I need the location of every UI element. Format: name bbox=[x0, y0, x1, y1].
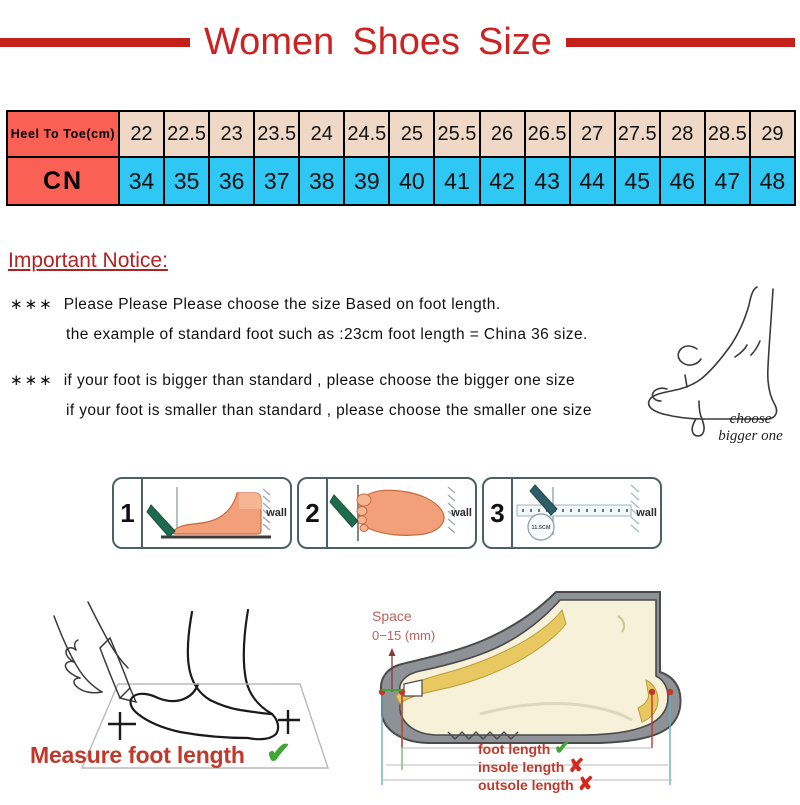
cell-cm-13: 28.5 bbox=[705, 111, 750, 157]
cell-cn-0: 34 bbox=[119, 157, 164, 205]
cell-cn-6: 40 bbox=[389, 157, 434, 205]
step-3-ruler-reading: 11.5CM bbox=[532, 525, 551, 531]
step-1-wall-label: wall bbox=[266, 507, 287, 519]
notice-paragraph-1-line-1: ∗∗∗Please Please Please choose the size … bbox=[10, 290, 700, 320]
row-header-cn: CN bbox=[7, 157, 119, 205]
length-legend: foot length ✔ insole length ✘ outsole le… bbox=[478, 740, 593, 794]
cell-cm-9: 26.5 bbox=[525, 111, 570, 157]
title-word-2: Shoes bbox=[352, 21, 460, 63]
cell-cm-5: 24.5 bbox=[344, 111, 389, 157]
cell-cm-8: 26 bbox=[480, 111, 525, 157]
step-number-1: 1 bbox=[114, 479, 143, 547]
cell-cn-8: 42 bbox=[480, 157, 525, 205]
cell-cm-6: 25 bbox=[389, 111, 434, 157]
legend-insole-length: insole length ✘ bbox=[478, 758, 593, 776]
notice-bullet-2: ∗∗∗ bbox=[10, 372, 54, 389]
step-number-2: 2 bbox=[299, 479, 328, 547]
cell-cn-9: 43 bbox=[525, 157, 570, 205]
measure-foot-length-caption: Measure foot length bbox=[30, 742, 245, 769]
cell-cm-12: 28 bbox=[660, 111, 705, 157]
cell-cn-12: 46 bbox=[660, 157, 705, 205]
page-title: WomenShoesSize bbox=[190, 22, 566, 62]
notice-p2-l1-text: if your foot is bigger than standard , p… bbox=[64, 372, 575, 389]
legend-outsole-length-text: outsole length bbox=[478, 777, 574, 793]
legend-outsole-length-cross-icon: ✘ bbox=[578, 774, 594, 795]
cell-cm-3: 23.5 bbox=[254, 111, 299, 157]
table-row-heel-to-toe: Heel To Toe(cm) 22 22.5 23 23.5 24 24.5 … bbox=[7, 111, 795, 157]
cell-cn-14: 48 bbox=[750, 157, 795, 205]
measurement-steps: 1 wall 2 bbox=[112, 477, 662, 549]
table-row-cn: CN 34 35 36 37 38 39 40 41 42 43 44 45 4… bbox=[7, 157, 795, 205]
step-panel-3: 3 11.5CM bbox=[482, 477, 662, 549]
cell-cn-4: 38 bbox=[299, 157, 344, 205]
space-label-line-1: Space bbox=[372, 606, 435, 626]
legend-foot-length-text: foot length bbox=[478, 741, 550, 757]
notice-p1-l1-text: Please Please Please choose the size Bas… bbox=[64, 296, 501, 313]
space-label-line-2: 0−15 (mm) bbox=[372, 626, 435, 646]
notice-paragraph-1-line-2: the example of standard foot such as :23… bbox=[10, 320, 700, 350]
cell-cm-1: 22.5 bbox=[164, 111, 209, 157]
cell-cn-10: 44 bbox=[570, 157, 615, 205]
cell-cn-7: 41 bbox=[434, 157, 479, 205]
cell-cm-10: 27 bbox=[570, 111, 615, 157]
size-chart-table: Heel To Toe(cm) 22 22.5 23 23.5 24 24.5 … bbox=[6, 110, 796, 206]
cell-cm-4: 24 bbox=[299, 111, 344, 157]
step-panel-1: 1 wall bbox=[112, 477, 292, 549]
cell-cn-11: 45 bbox=[615, 157, 660, 205]
cell-cn-2: 36 bbox=[209, 157, 254, 205]
cell-cm-7: 25.5 bbox=[434, 111, 479, 157]
size-chart-table-wrapper: Heel To Toe(cm) 22 22.5 23 23.5 24 24.5 … bbox=[6, 110, 796, 206]
row-header-heel-to-toe: Heel To Toe(cm) bbox=[7, 111, 119, 157]
foot-sketch-caption: choose bigger one bbox=[703, 411, 798, 445]
page-title-row: WomenShoesSize bbox=[0, 14, 800, 70]
legend-insole-length-text: insole length bbox=[478, 759, 564, 775]
step-panel-2: 2 wall bbox=[297, 477, 477, 549]
cell-cn-1: 35 bbox=[164, 157, 209, 205]
step-number-3: 3 bbox=[484, 479, 513, 547]
foot-sketch-caption-line-2: bigger one bbox=[703, 428, 798, 445]
cell-cn-13: 47 bbox=[705, 157, 750, 205]
cell-cm-11: 27.5 bbox=[615, 111, 660, 157]
title-bar-right bbox=[566, 38, 795, 47]
space-gap-label: Space 0−15 (mm) bbox=[372, 606, 435, 646]
notice-paragraph-2-line-1: ∗∗∗if your foot is bigger than standard … bbox=[10, 366, 700, 396]
foot-sketch-caption-line-1: choose bbox=[703, 411, 798, 428]
title-word-3: Size bbox=[478, 21, 552, 63]
title-word-1: Women bbox=[204, 21, 334, 63]
cell-cn-5: 39 bbox=[344, 157, 389, 205]
step-3-wall-label: wall bbox=[636, 507, 657, 519]
legend-outsole-length: outsole length ✘ bbox=[478, 776, 593, 794]
cell-cm-14: 29 bbox=[750, 111, 795, 157]
cell-cm-2: 23 bbox=[209, 111, 254, 157]
notice-text-block: ∗∗∗Please Please Please choose the size … bbox=[10, 290, 700, 426]
measure-check-icon: ✔ bbox=[266, 736, 291, 771]
notice-paragraph-2-line-2: if your foot is smaller than standard , … bbox=[10, 396, 700, 426]
notice-bullet-1: ∗∗∗ bbox=[10, 296, 54, 313]
important-notice-heading: Important Notice: bbox=[8, 249, 168, 273]
step-2-wall-label: wall bbox=[451, 507, 472, 519]
foot-side-sketch: choose bigger one bbox=[645, 283, 795, 453]
cell-cn-3: 37 bbox=[254, 157, 299, 205]
title-bar-left bbox=[0, 38, 190, 47]
cell-cm-0: 22 bbox=[119, 111, 164, 157]
